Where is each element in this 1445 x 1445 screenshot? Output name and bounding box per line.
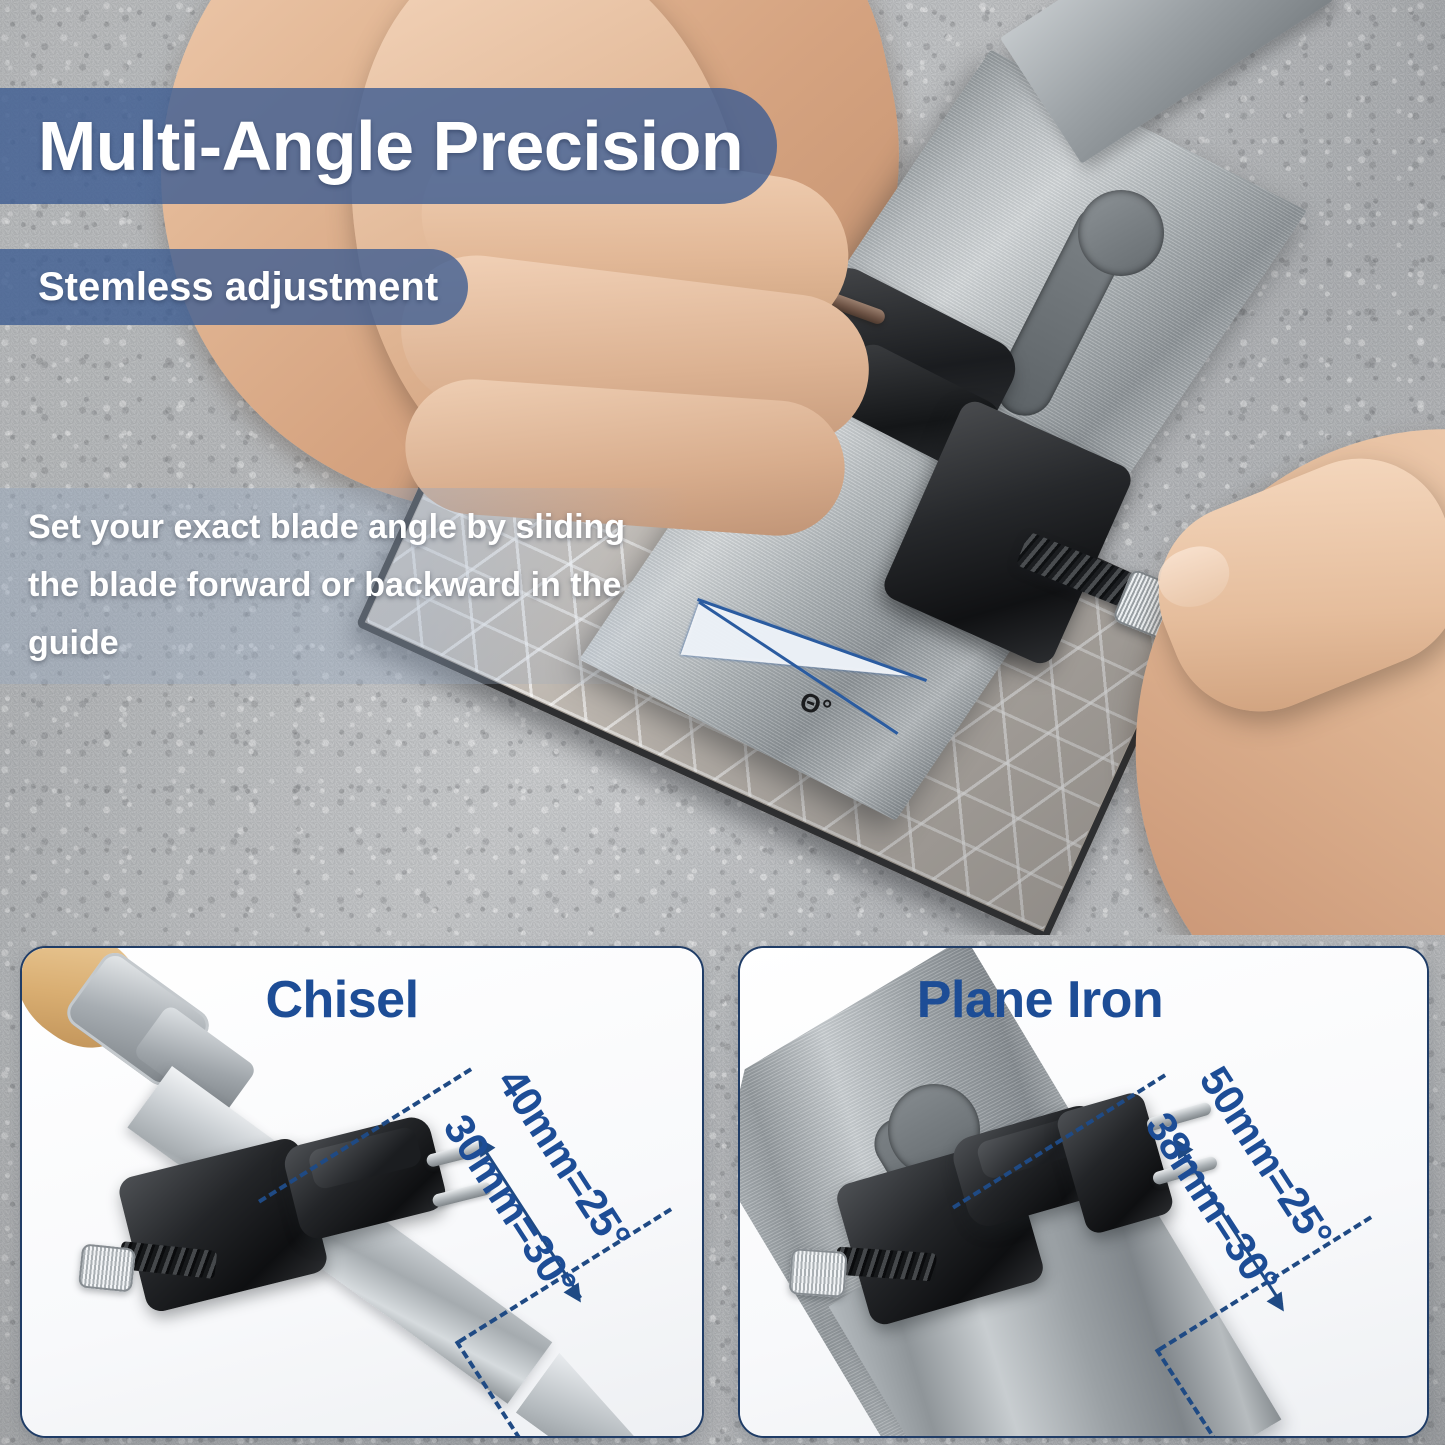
infographic-page: Θ° Multi-Angle Precision Stemless adjust…	[0, 0, 1445, 1445]
plane-iron-card-title: Plane Iron	[780, 970, 1300, 1030]
plane-thumbscrew	[788, 1248, 847, 1298]
page-title: Multi-Angle Precision	[38, 111, 743, 181]
chisel-thumbscrew	[78, 1243, 136, 1292]
plane-iron-card: 50mm=25° 38mm=30° Plane Iron	[738, 946, 1429, 1438]
chisel-card: 40mm=25° 30mm=30° Chisel	[20, 946, 704, 1438]
chisel-card-title: Chisel	[92, 970, 592, 1030]
page-subtitle: Stemless adjustment	[38, 267, 438, 307]
subtitle-banner: Stemless adjustment	[0, 249, 468, 325]
feature-cards: 40mm=25° 30mm=30° Chisel	[0, 938, 1445, 1445]
blade-slot-hole	[1078, 190, 1164, 276]
body-description: Set your exact blade angle by sliding th…	[28, 498, 628, 672]
title-banner: Multi-Angle Precision	[0, 88, 777, 204]
